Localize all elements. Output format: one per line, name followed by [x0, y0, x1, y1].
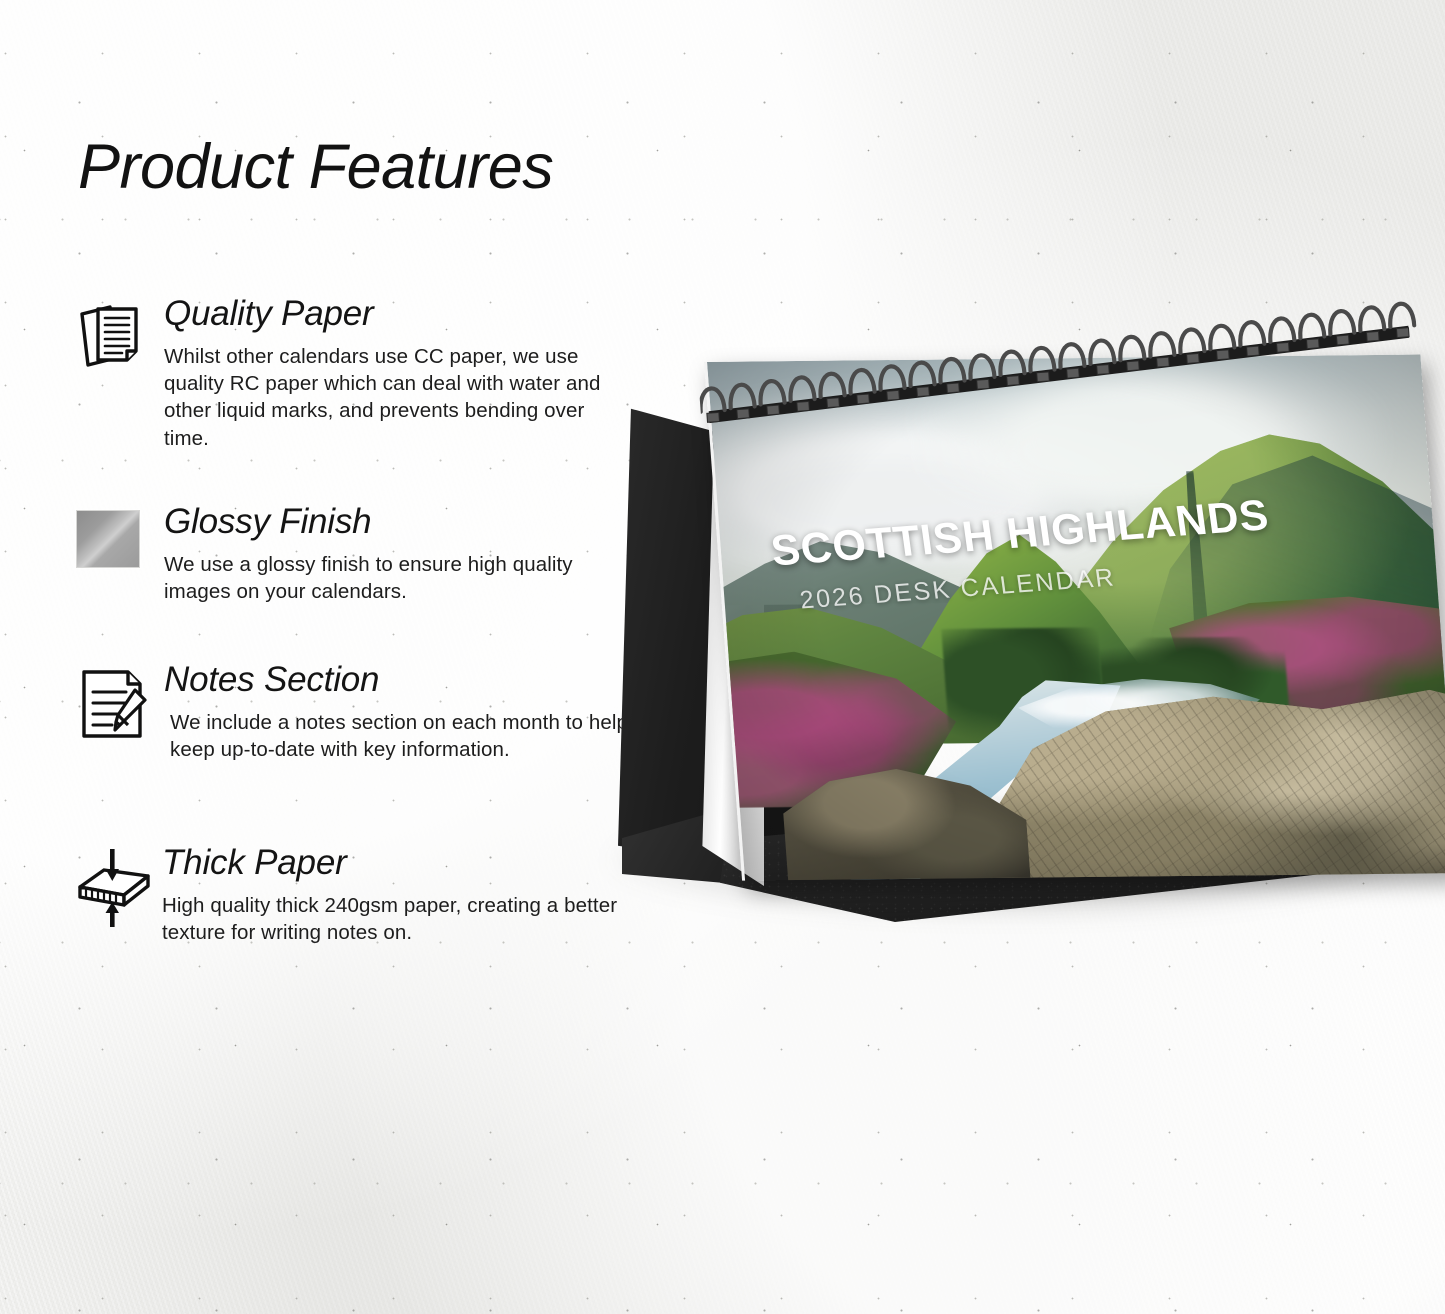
feature-description: We include a notes section on each month… — [170, 709, 632, 764]
note-and-pencil-icon — [72, 662, 156, 746]
feature-item-thick-paper: Thick Paper High quality thick 240gsm pa… — [72, 845, 632, 946]
desk-calendar-mockup: SCOTTISH HIGHLANDS 2026 DESK CALENDAR — [600, 330, 1445, 1010]
thick-slab-arrows-icon — [72, 845, 156, 929]
feature-description: We use a glossy finish to ensure high qu… — [164, 551, 632, 606]
features-column: Product Features Qualit — [0, 0, 660, 1314]
feature-description: High quality thick 240gsm paper, creatin… — [162, 892, 632, 947]
feature-heading: Notes Section — [164, 662, 632, 699]
feature-item-glossy-finish: Glossy Finish We use a glossy finish to … — [72, 504, 632, 605]
feature-item-notes-section: Notes Section We include a notes section… — [72, 662, 632, 763]
documents-stack-icon — [72, 296, 156, 380]
feature-heading: Glossy Finish — [164, 504, 632, 541]
page-title: Product Features — [78, 131, 553, 203]
feature-item-quality-paper: Quality Paper Whilst other calendars use… — [72, 296, 632, 452]
feature-heading: Thick Paper — [162, 845, 632, 882]
feature-description: Whilst other calendars use CC paper, we … — [164, 343, 632, 452]
glossy-square-icon — [72, 504, 156, 588]
feature-heading: Quality Paper — [164, 296, 632, 333]
